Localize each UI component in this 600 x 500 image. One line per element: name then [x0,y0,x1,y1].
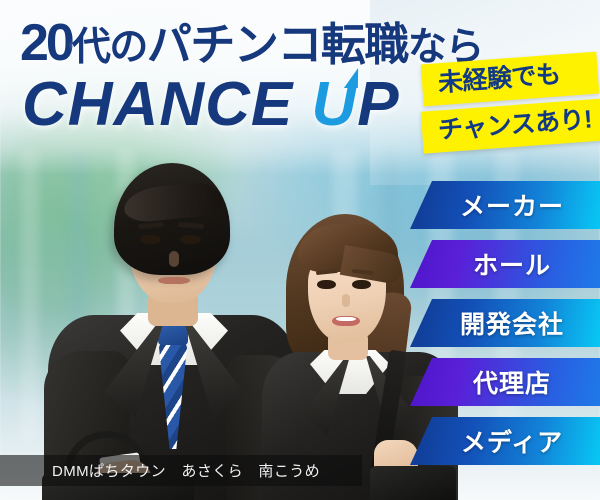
headline-katakana: パチンコ [147,19,321,70]
female-hair-bangs [298,224,398,272]
female-eye-left [317,280,336,289]
male-nose [169,251,179,267]
male-mouth [158,277,190,284]
category-label-hall: ホール [459,246,551,282]
chance-up-logo: CHANCE UP [22,74,400,136]
logo-chance-word: CHANCE [22,70,293,139]
badge-no-experience: 未経験でも [421,52,600,107]
female-mouth [332,316,360,326]
promo-badge-group: 未経験でも チャンスあり! [422,58,598,147]
advertisement-banner[interactable]: 20代のパチンコ転職なら CHANCE UP 未経験でも チャンスあり! メーカ… [0,0,600,500]
people-photo [0,140,430,500]
headline-number: 20 [20,14,72,72]
credit-bar: DMMぱちタウン あさくら 南こうめ [0,455,362,486]
category-button-developer[interactable]: 開発会社 [410,299,600,347]
category-button-hall[interactable]: ホール [410,240,600,288]
category-button-list: メーカー ホール 開発会社 代理店 メディア [410,181,600,476]
category-button-agency[interactable]: 代理店 [410,358,600,406]
category-label-media: メディア [447,423,563,459]
category-button-maker[interactable]: メーカー [410,181,600,229]
credit-text: DMMぱちタウン あさくら 南こうめ [0,460,320,481]
category-label-maker: メーカー [446,187,564,223]
male-eye-left [140,235,161,244]
headline-text: 20代のパチンコ転職なら [20,17,483,69]
logo-up-u-arrow-icon: U [311,74,357,136]
female-nose [342,294,350,307]
male-businessperson [48,155,298,500]
category-label-developer: 開発会社 [446,305,564,341]
logo-up-p: P [357,70,399,139]
category-label-agency: 代理店 [459,364,551,400]
headline-kanji: 転職 [321,19,408,70]
male-necktie-knot [158,325,188,345]
female-eye-right [352,280,371,289]
badge-chance-available: チャンスあり! [421,98,600,153]
headline-rest: 代の [72,26,147,69]
category-button-media[interactable]: メディア [410,417,600,465]
male-eye-right [180,235,201,244]
